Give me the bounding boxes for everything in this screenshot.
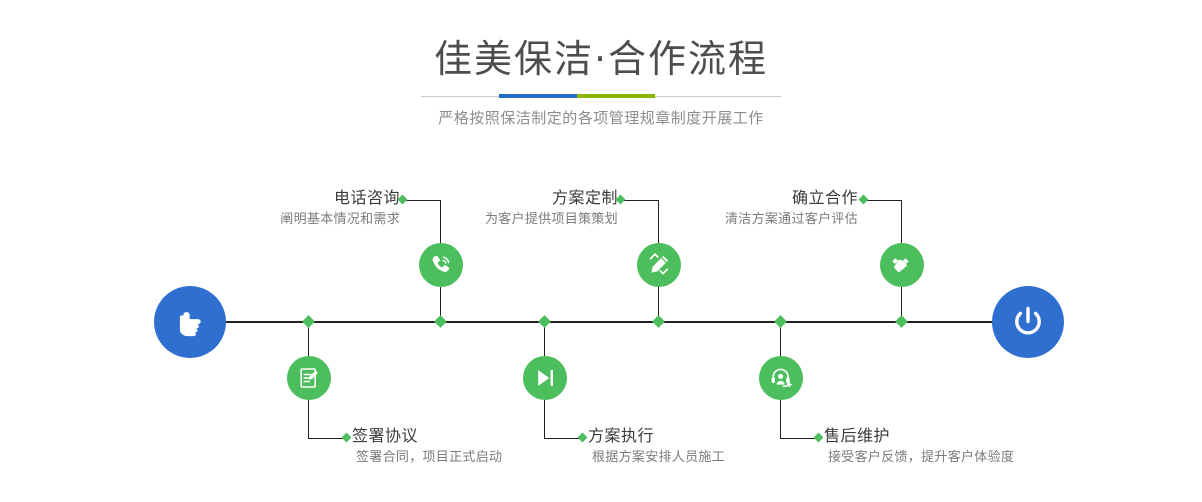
step4-axis-diamond [538,315,551,328]
power-icon [1007,301,1049,343]
step5-label: 售后维护 接受客户反馈，提升客户体验度 [824,425,1164,469]
step6-desc: 清洁方案通过客户评估 [530,209,858,231]
step1-icon-node [419,243,463,287]
handshake-icon [889,252,915,278]
timeline-end-node [992,286,1064,358]
step6-horizontal-connector [865,200,902,201]
step3-icon-node [637,243,681,287]
step6-axis-diamond [895,315,908,328]
step4-horizontal-connector [544,438,582,439]
step5-title: 售后维护 [824,425,1164,447]
step6-icon-node [880,243,924,287]
title-divider [421,94,781,99]
pencil-design-icon [646,252,672,278]
step3-horizontal-connector [622,200,659,201]
step5-axis-diamond [774,315,787,328]
divider-blue-segment [499,94,577,98]
step4-icon-node [523,356,567,400]
step1-axis-diamond [434,315,447,328]
step5-desc: 接受客户反馈，提升客户体验度 [824,447,1164,469]
divider-green-segment [577,94,655,98]
step3-axis-diamond [652,315,665,328]
phone-call-icon [428,252,454,278]
page-subtitle: 严格按照保洁制定的各项管理规章制度开展工作 [0,107,1202,129]
step2-horizontal-connector [308,438,346,439]
step2-label-diamond [342,433,352,443]
customer-service-icon [768,365,794,391]
timeline-start-node [154,286,226,358]
step6-label: 确立合作 清洁方案通过客户评估 [530,187,858,231]
cooperation-flow-infographic: 佳美保洁·合作流程 严格按照保洁制定的各项管理规章制度开展工作 [0,0,1202,502]
step2-axis-diamond [302,315,315,328]
pointing-hand-icon [170,302,210,342]
step6-label-diamond [859,195,869,205]
step1-horizontal-connector [404,200,441,201]
page-title: 佳美保洁·合作流程 [0,36,1202,82]
step2-icon-node [287,356,331,400]
document-sign-icon [296,365,322,391]
play-execute-icon [532,365,558,391]
step6-title: 确立合作 [530,187,858,209]
step5-horizontal-connector [780,438,818,439]
step5-icon-node [759,356,803,400]
